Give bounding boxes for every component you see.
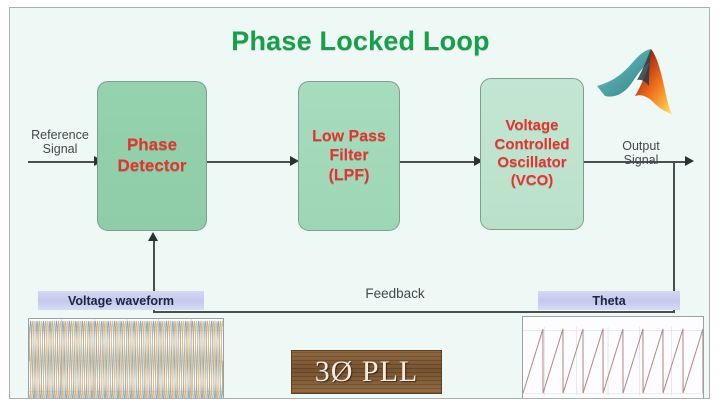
wire-feedback-across <box>153 311 675 313</box>
block-lpf-line-2: Filter <box>312 146 386 166</box>
label-reference-signal-line-1: Reference <box>31 128 89 142</box>
block-vco[interactable]: Voltage Controlled Oscillator (VCO) <box>480 78 584 230</box>
caption-theta: Theta <box>538 291 680 310</box>
slide-canvas: Phase Locked Loop Phase Detector Low P <box>9 7 710 399</box>
block-vco-line-1: Voltage <box>495 117 570 135</box>
block-phase-detector-line-2: Detector <box>118 156 187 177</box>
theta-plot <box>523 317 703 399</box>
arrow-feedback-into-pd <box>148 232 158 241</box>
block-vco-line-4: (VCO) <box>495 172 570 190</box>
banner-label: 3Ø PLL <box>315 355 419 389</box>
label-output-signal-line-1: Output <box>622 139 660 153</box>
wire-lpf-to-vco <box>400 161 477 163</box>
scope-voltage-waveform <box>28 318 224 399</box>
matlab-logo-glyph <box>595 46 673 122</box>
block-vco-line-3: Oscillator <box>495 154 570 172</box>
caption-voltage-waveform: Voltage waveform <box>38 291 204 310</box>
arrow-output <box>685 156 694 166</box>
screenshot-root: Phase Locked Loop Phase Detector Low P <box>0 0 720 404</box>
wire-pd-to-lpf <box>207 161 293 163</box>
block-phase-detector-line-1: Phase <box>118 135 187 156</box>
matlab-logo <box>595 46 673 122</box>
block-vco-line-2: Controlled <box>495 136 570 154</box>
label-reference-signal-line-2: Signal <box>43 142 78 156</box>
scope-theta <box>522 316 704 399</box>
block-lpf-line-1: Low Pass <box>312 127 386 147</box>
block-lpf-line-3: (LPF) <box>312 166 386 186</box>
block-phase-detector[interactable]: Phase Detector <box>97 81 207 231</box>
voltage-waveform-plot <box>29 319 223 399</box>
label-output-signal: Output Signal <box>610 139 672 167</box>
phase-traces <box>29 321 223 399</box>
block-low-pass-filter[interactable]: Low Pass Filter (LPF) <box>298 81 400 231</box>
wire-input <box>28 161 100 163</box>
theta-trace <box>523 329 703 393</box>
label-feedback: Feedback <box>350 286 440 301</box>
label-reference-signal: Reference Signal <box>22 128 98 156</box>
label-output-signal-line-2: Signal <box>624 153 659 167</box>
banner-3phase-pll: 3Ø PLL <box>291 350 442 394</box>
